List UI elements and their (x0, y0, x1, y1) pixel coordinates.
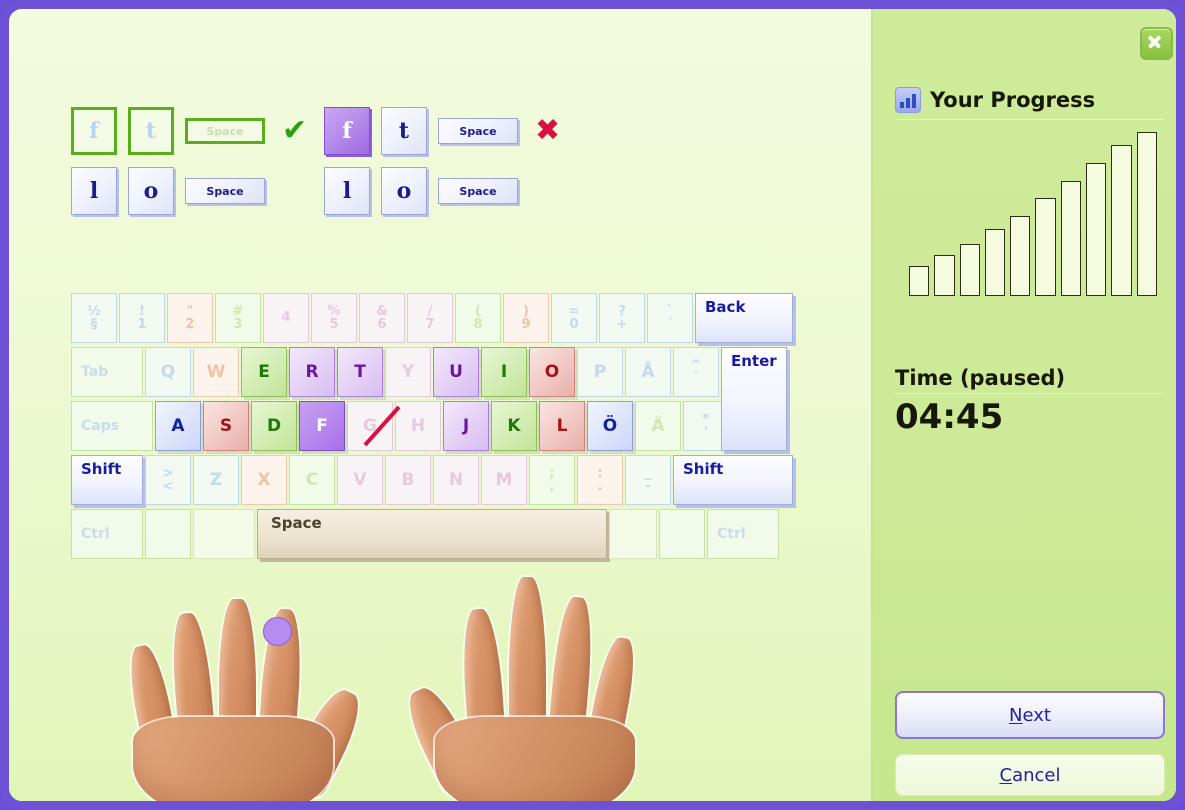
key-ctrl[interactable]: Ctrl (71, 509, 143, 559)
key-blank[interactable] (609, 509, 657, 559)
cancel-accel: C (1000, 765, 1013, 786)
key-x[interactable]: X (241, 455, 287, 505)
exercise-key-space-target[interactable]: Space (185, 118, 265, 144)
progress-bar-4 (985, 229, 1005, 296)
next-rest: ext (1023, 705, 1051, 726)
next-button[interactable]: Next (895, 691, 1165, 739)
keyboard-row-bottom: Shift><ZXCVBNM;,:._-Shift (71, 455, 823, 507)
key-blank[interactable]: Å (625, 347, 671, 397)
exercise-key-o-typed[interactable]: o (381, 167, 427, 215)
key-5[interactable]: %5 (311, 293, 357, 343)
key-blank[interactable]: ½§ (71, 293, 117, 343)
cancel-button[interactable]: Cancel (895, 754, 1165, 796)
key-i[interactable]: I (481, 347, 527, 397)
close-icon[interactable] (1140, 27, 1173, 60)
key-shift[interactable]: Shift (673, 455, 793, 505)
exercise-target-group: f t Space ✔ l o Space (71, 105, 307, 225)
exercise-key-space2-target[interactable]: Space (185, 178, 265, 204)
main-practice-area: f t Space ✔ l o Space f t Space ✖ l o (9, 9, 871, 801)
key-blank[interactable]: ?+ (599, 293, 645, 343)
progress-bar-3 (960, 244, 980, 296)
key-dual-label: ½§ (87, 305, 100, 332)
keyboard-row-top: TabQWERTYUIOPÅ^¨Enter (71, 347, 823, 399)
key-dual-label: *' (703, 413, 710, 440)
exercise-key-f-typed[interactable]: f (324, 107, 370, 155)
key-blank[interactable] (659, 509, 705, 559)
key-shift[interactable]: Shift (71, 455, 143, 505)
key-z[interactable]: Z (193, 455, 239, 505)
exercise-key-t-target[interactable]: t (128, 107, 174, 155)
key-9[interactable]: )9 (503, 293, 549, 343)
key-blank[interactable]: ^¨ (673, 347, 719, 397)
key-blank[interactable] (193, 509, 255, 559)
time-divider (895, 393, 1165, 394)
key-o[interactable]: O (529, 347, 575, 397)
key-a[interactable]: A (155, 401, 201, 451)
key-t[interactable]: T (337, 347, 383, 397)
next-button-label: Next (1009, 705, 1051, 726)
exercise-key-space-typed[interactable]: Space (438, 118, 518, 144)
key-0[interactable]: =0 (551, 293, 597, 343)
key-b[interactable]: B (385, 455, 431, 505)
key-e[interactable]: E (241, 347, 287, 397)
progress-bar-2 (934, 255, 954, 296)
progress-bar-1 (909, 266, 929, 296)
key-y[interactable]: Y (385, 347, 431, 397)
key-dual-label: (8 (473, 305, 482, 332)
key-dual-label: 4 (281, 311, 290, 324)
key-w[interactable]: W (193, 347, 239, 397)
key-dual-label: >< (163, 467, 174, 494)
progress-heading: Your Progress (895, 87, 1095, 113)
key-blank[interactable]: >< (145, 455, 191, 505)
keyboard-row-home: CapsASDFGHJKLÖÄ*' (71, 401, 823, 453)
key-blank[interactable] (145, 509, 191, 559)
key-dual-label: %5 (327, 305, 340, 332)
key-dual-label: &6 (376, 305, 387, 332)
key-blank[interactable]: ;, (529, 455, 575, 505)
key-dual-label: =0 (569, 305, 580, 332)
key-dual-label: _- (645, 467, 652, 494)
progress-title: Your Progress (930, 88, 1095, 112)
key-enter[interactable]: Enter (721, 347, 787, 451)
exercise-target-row-2: l o Space (71, 165, 307, 217)
next-accel: N (1009, 705, 1022, 726)
key-tab[interactable]: Tab (71, 347, 143, 397)
progress-panel: Your Progress Time (paused) 04:45 Next C… (871, 9, 1185, 801)
key-dual-label: ;, (549, 467, 554, 494)
exercise-key-l-typed[interactable]: l (324, 167, 370, 215)
exercise-target-row-1: f t Space ✔ (71, 105, 307, 157)
progress-bar-7 (1061, 181, 1081, 296)
key-v[interactable]: V (337, 455, 383, 505)
key-blank[interactable]: _- (625, 455, 671, 505)
progress-bar-5 (1010, 216, 1030, 296)
key-caps[interactable]: Caps (71, 401, 153, 451)
cancel-rest: ancel (1012, 765, 1060, 786)
exercise-typed-row-2: l o Space (324, 165, 560, 217)
exercise-key-f-target[interactable]: f (71, 107, 117, 155)
key-g[interactable]: G (347, 401, 393, 451)
key-dual-label: "2 (185, 305, 194, 332)
left-palm (133, 717, 333, 810)
key-dual-label: #3 (233, 305, 244, 332)
key-h[interactable]: H (395, 401, 441, 451)
key-l[interactable]: L (539, 401, 585, 451)
key-dual-label: `´ (667, 305, 674, 332)
key-blank[interactable]: :. (577, 455, 623, 505)
key-k[interactable]: K (491, 401, 537, 451)
key-blank[interactable]: Ä (635, 401, 681, 451)
key-dual-label: :. (597, 467, 602, 494)
time-value: 04:45 (895, 397, 1003, 437)
key-f[interactable]: F (299, 401, 345, 451)
key-4[interactable]: 4 (263, 293, 309, 343)
key-d[interactable]: D (251, 401, 297, 451)
key-n[interactable]: N (433, 455, 479, 505)
hands-illustration (109, 567, 729, 807)
exercise-key-o-target[interactable]: o (128, 167, 174, 215)
status-check-icon: ✔ (282, 116, 307, 146)
progress-bar-6 (1035, 198, 1055, 296)
bar-chart-icon (895, 87, 921, 113)
key-space[interactable]: Space (257, 509, 607, 559)
progress-bar-10 (1137, 132, 1157, 296)
time-heading: Time (paused) (895, 366, 1065, 390)
finger-position-indicator (263, 617, 292, 646)
cancel-button-label: Cancel (1000, 765, 1061, 786)
key-dual-label: )9 (521, 305, 530, 332)
progress-bar-8 (1086, 163, 1106, 296)
key-dual-label: !1 (137, 305, 146, 332)
key-ctrl[interactable]: Ctrl (707, 509, 779, 559)
keyboard-row-space: CtrlSpaceCtrl (71, 509, 823, 561)
progress-bar-9 (1111, 145, 1131, 296)
key-dual-label: ?+ (617, 305, 628, 332)
key-blank[interactable]: `´ (647, 293, 693, 343)
key-q[interactable]: Q (145, 347, 191, 397)
key-c[interactable]: C (289, 455, 335, 505)
key-r[interactable]: R (289, 347, 335, 397)
key-7[interactable]: /7 (407, 293, 453, 343)
exercise-key-space2-typed[interactable]: Space (438, 178, 518, 204)
key-dual-label: /7 (425, 305, 434, 332)
key-s[interactable]: S (203, 401, 249, 451)
status-cross-icon: ✖ (535, 116, 560, 146)
key-1[interactable]: !1 (119, 293, 165, 343)
exercise-typed-row-1: f t Space ✖ (324, 105, 560, 157)
progress-bar-chart (909, 134, 1157, 296)
right-palm (435, 717, 635, 810)
key-6[interactable]: &6 (359, 293, 405, 343)
progress-divider (895, 119, 1165, 120)
key-2[interactable]: "2 (167, 293, 213, 343)
key-back[interactable]: Back (695, 293, 793, 343)
key-dual-label: ^¨ (691, 359, 702, 386)
exercise-key-l-target[interactable]: l (71, 167, 117, 215)
virtual-keyboard: ½§!1"2#34%5&6/7(8)9=0?+`´Back TabQWERTYU… (71, 293, 823, 561)
key-u[interactable]: U (433, 347, 479, 397)
key-3[interactable]: #3 (215, 293, 261, 343)
key-8[interactable]: (8 (455, 293, 501, 343)
key-blank[interactable]: Ö (587, 401, 633, 451)
key-j[interactable]: J (443, 401, 489, 451)
exercise-key-t-typed[interactable]: t (381, 107, 427, 155)
time-title: Time (paused) (895, 366, 1065, 390)
exercise-typed-group: f t Space ✖ l o Space (324, 105, 560, 225)
key-m[interactable]: M (481, 455, 527, 505)
key-p[interactable]: P (577, 347, 623, 397)
keyboard-row-numbers: ½§!1"2#34%5&6/7(8)9=0?+`´Back (71, 293, 823, 345)
application-window: f t Space ✔ l o Space f t Space ✖ l o (0, 0, 1185, 810)
